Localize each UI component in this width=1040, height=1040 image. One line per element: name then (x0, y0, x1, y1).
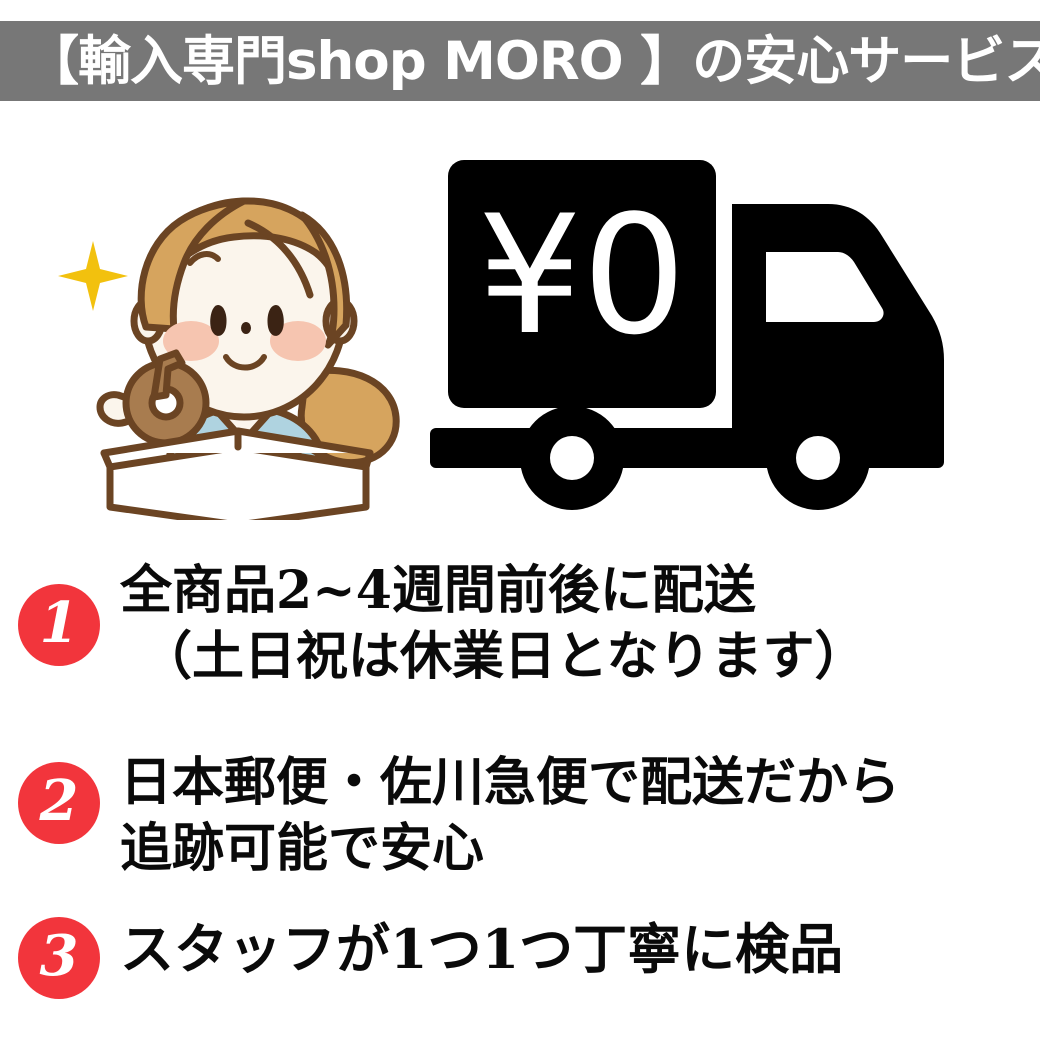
service-text-1-line-1: 全商品2~4週間前後に配送 (120, 558, 1040, 624)
woman-packing-box-illustration (48, 145, 418, 520)
sparkle-icon (58, 241, 128, 311)
service-text-2-line-1: 日本郵便・佐川急便で配送だから (120, 750, 1040, 816)
service-text-1: 全商品2~4週間前後に配送 （土日祝は休業日となります） (120, 558, 1040, 689)
free-shipping-truck-icon: ¥0 (420, 140, 990, 520)
badge-number-2: 2 (18, 762, 100, 844)
service-item-1: 1 全商品2~4週間前後に配送 （土日祝は休業日となります） (0, 558, 1040, 689)
service-text-3: スタッフが1つ1つ丁寧に検品 (120, 915, 1040, 983)
promo-banner-page: 【輸入専門shop MORO 】の安心サービス (0, 0, 1040, 1040)
service-list: 1 全商品2~4週間前後に配送 （土日祝は休業日となります） 2 日本郵便・佐川… (0, 540, 1040, 1040)
service-item-3: 3 スタッフが1つ1つ丁寧に検品 (0, 915, 1040, 999)
service-text-3-line-1: スタッフが1つ1つ丁寧に検品 (120, 915, 1040, 983)
service-text-2-line-2: 追跡可能で安心 (120, 816, 1040, 882)
service-text-2: 日本郵便・佐川急便で配送だから 追跡可能で安心 (120, 750, 1040, 881)
badge-number-3: 3 (18, 917, 100, 999)
truck-price-label: ¥0 (478, 180, 687, 371)
service-text-1-line-2: （土日祝は休業日となります） (120, 624, 1040, 690)
page-title: 【輸入専門shop MORO 】の安心サービス (26, 35, 1040, 88)
illustration-row: ¥0 (0, 120, 1040, 520)
header-banner: 【輸入専門shop MORO 】の安心サービス (0, 21, 1040, 101)
badge-number-1: 1 (18, 584, 100, 666)
service-item-2: 2 日本郵便・佐川急便で配送だから 追跡可能で安心 (0, 750, 1040, 881)
